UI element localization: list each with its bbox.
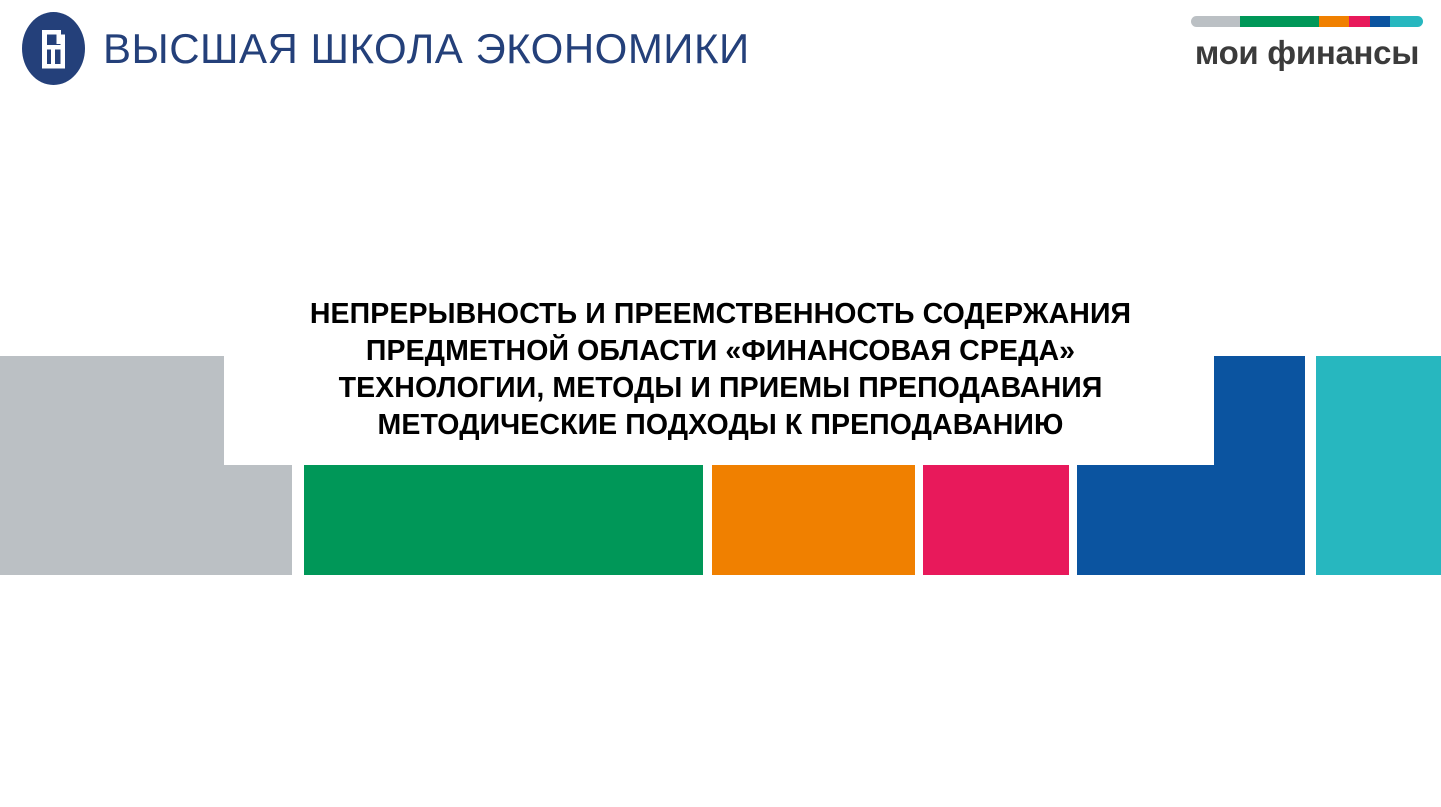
decor-bar-orange [712,465,915,575]
decor-bar-green [304,465,703,575]
title-line-3: ТЕХНОЛОГИИ, МЕТОДЫ И ПРИЕМЫ ПРЕПОДАВАНИЯ [0,370,1441,407]
page-title: НЕПРЕРЫВНОСТЬ И ПРЕЕМСТВЕННОСТЬ СОДЕРЖАН… [0,296,1441,444]
title-line-2: ПРЕДМЕТНОЙ ОБЛАСТИ «ФИНАНСОВАЯ СРЕДА» [0,333,1441,370]
mf-bar-segment-pink [1349,16,1370,27]
mf-bar-segment-green [1240,16,1319,27]
hse-wordmark: ВЫСШАЯ ШКОЛА ЭКОНОМИКИ [103,28,750,70]
hse-logo: ВЫСШАЯ ШКОЛА ЭКОНОМИКИ [22,12,750,85]
decor-bar-blue-short [1077,465,1305,575]
slide-canvas: ВЫСШАЯ ШКОЛА ЭКОНОМИКИ мои финансы НЕПРЕ… [0,0,1441,807]
mf-bar-segment-blue [1370,16,1390,27]
hse-emblem-icon [22,12,85,85]
title-line-1: НЕПРЕРЫВНОСТЬ И ПРЕЕМСТВЕННОСТЬ СОДЕРЖАН… [0,296,1441,333]
my-finance-wordmark: мои финансы [1191,36,1423,71]
mf-bar-segment-teal [1390,16,1423,27]
mf-bar-segment-orange [1319,16,1349,27]
mf-bar-segment-gray [1191,16,1240,27]
my-finance-logo: мои финансы [1191,16,1423,71]
decor-bar-pink [923,465,1069,575]
decor-bar-gray-short [0,465,292,575]
title-line-4: МЕТОДИЧЕСКИЕ ПОДХОДЫ К ПРЕПОДАВАНИЮ [0,407,1441,444]
my-finance-color-bar [1191,16,1423,27]
